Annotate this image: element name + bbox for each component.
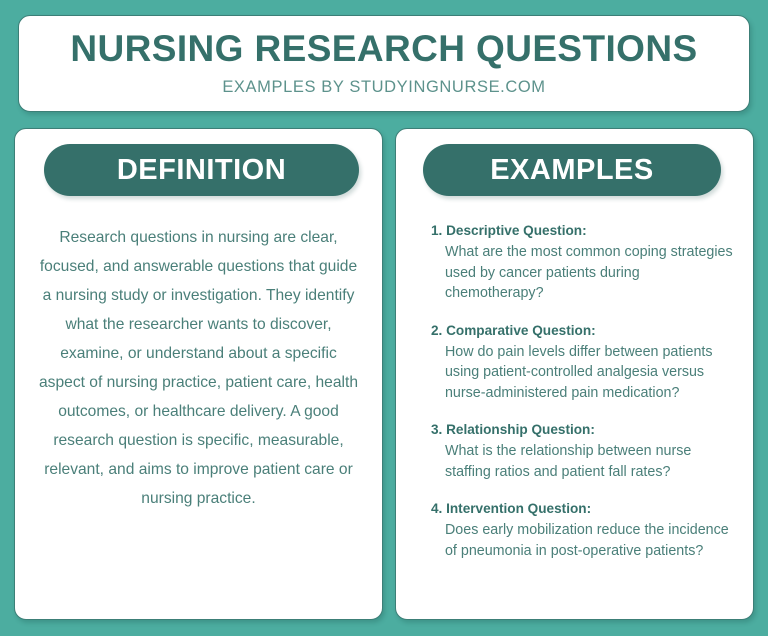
- example-text: What is the relationship between nurse s…: [431, 441, 733, 482]
- examples-heading-pill: EXAMPLES: [423, 144, 721, 196]
- panels-row: DEFINITION Research questions in nursing…: [14, 128, 754, 620]
- example-label: 3. Relationship Question:: [431, 420, 733, 439]
- example-text: How do pain levels differ between patien…: [431, 342, 733, 404]
- list-item: 4. Intervention Question: Does early mob…: [431, 499, 733, 561]
- example-label: 2. Comparative Question:: [431, 321, 733, 340]
- definition-heading-pill: DEFINITION: [44, 144, 359, 196]
- list-item: 1. Descriptive Question: What are the mo…: [431, 221, 733, 304]
- example-label: 1. Descriptive Question:: [431, 221, 733, 240]
- page-subtitle: EXAMPLES BY STUDYINGNURSE.COM: [222, 78, 545, 97]
- definition-body-text: Research questions in nursing are clear,…: [15, 196, 382, 513]
- example-text: Does early mobilization reduce the incid…: [431, 520, 733, 561]
- examples-panel: EXAMPLES 1. Descriptive Question: What a…: [395, 128, 754, 620]
- list-item: 3. Relationship Question: What is the re…: [431, 420, 733, 482]
- page-title: NURSING RESEARCH QUESTIONS: [70, 30, 697, 69]
- infographic-root: NURSING RESEARCH QUESTIONS EXAMPLES BY S…: [0, 0, 768, 636]
- list-item: 2. Comparative Question: How do pain lev…: [431, 321, 733, 404]
- example-text: What are the most common coping strategi…: [431, 242, 733, 304]
- example-label: 4. Intervention Question:: [431, 499, 733, 518]
- definition-panel: DEFINITION Research questions in nursing…: [14, 128, 383, 620]
- examples-list: 1. Descriptive Question: What are the mo…: [396, 196, 753, 561]
- header-card: NURSING RESEARCH QUESTIONS EXAMPLES BY S…: [18, 15, 750, 112]
